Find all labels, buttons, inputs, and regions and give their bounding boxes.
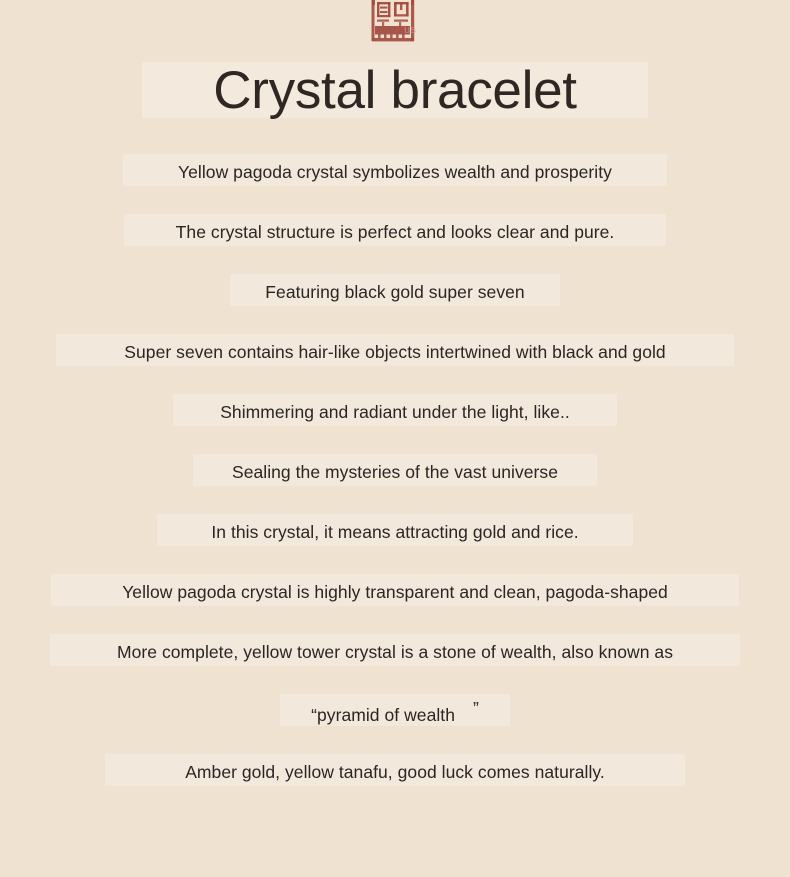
description-line: Yellow pagoda crystal symbolizes wealth … <box>0 142 790 202</box>
description-line: Featuring black gold super seven <box>0 262 790 322</box>
seal-watermark-text: us <box>404 24 416 36</box>
description-line: Super seven contains hair-like objects i… <box>0 322 790 382</box>
description-line-text: “pyramid of wealth” <box>311 697 479 727</box>
description-line: The crystal structure is perfect and loo… <box>0 202 790 262</box>
description-lines: Yellow pagoda crystal symbolizes wealth … <box>0 142 790 802</box>
description-line-text: The crystal structure is perfect and loo… <box>176 221 615 244</box>
seal-header: us <box>0 0 790 52</box>
description-line: Shimmering and radiant under the light, … <box>0 382 790 442</box>
description-line: In this crystal, it means attracting gol… <box>0 502 790 562</box>
description-line: Yellow pagoda crystal is highly transpar… <box>0 562 790 622</box>
description-line-text: Amber gold, yellow tanafu, good luck com… <box>185 761 605 784</box>
description-line-text: More complete, yellow tower crystal is a… <box>117 641 673 664</box>
description-line-text: Super seven contains hair-like objects i… <box>124 341 665 364</box>
description-line: More complete, yellow tower crystal is a… <box>0 622 790 682</box>
description-line-text: Featuring black gold super seven <box>265 281 524 304</box>
description-line-text: Yellow pagoda crystal is highly transpar… <box>122 581 668 604</box>
page-title: Crystal bracelet <box>213 63 576 119</box>
page-title-row: Crystal bracelet <box>0 52 790 130</box>
description-line-text: Shimmering and radiant under the light, … <box>220 401 570 424</box>
description-line-text: In this crystal, it means attracting gol… <box>211 521 578 544</box>
description-line: Amber gold, yellow tanafu, good luck com… <box>0 742 790 802</box>
description-line: “pyramid of wealth” <box>0 682 790 742</box>
description-line-text: Sealing the mysteries of the vast univer… <box>232 461 558 484</box>
description-line-text: Yellow pagoda crystal symbolizes wealth … <box>178 161 612 184</box>
description-line: Sealing the mysteries of the vast univer… <box>0 442 790 502</box>
product-description-page: { "page": { "background_color": "#efe2d1… <box>0 0 790 877</box>
closing-quote-mark: ” <box>473 697 479 720</box>
